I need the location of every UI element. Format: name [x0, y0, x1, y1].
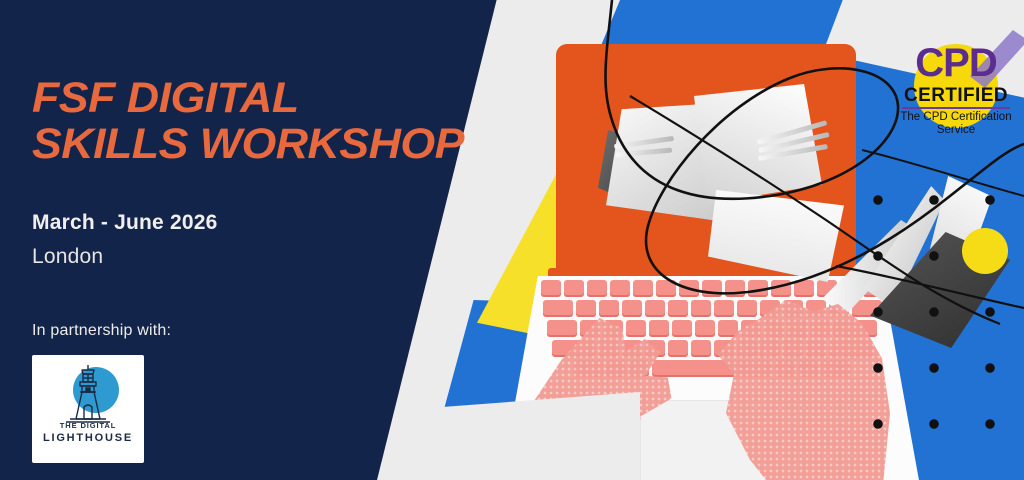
partner-logo[interactable]: THE DIGITAL LIGHTHOUSE — [32, 355, 144, 463]
cpd-acronym: CPD — [888, 42, 1024, 84]
cpd-service-line-2: Service — [937, 124, 975, 136]
partnership-label: In partnership with: — [32, 322, 472, 340]
cpd-service-text: The CPD Certification Service — [886, 111, 1024, 137]
page-title: FSF DIGITAL SKILLS WORKSHOP — [32, 75, 490, 167]
title-line-2: SKILLS WORKSHOP — [32, 121, 490, 167]
event-banner: FSF DIGITAL SKILLS WORKSHOP March - June… — [0, 0, 1024, 480]
title-line-1: FSF DIGITAL — [32, 74, 299, 122]
lighthouse-icon — [32, 359, 144, 429]
cpd-certified-label: CERTIFIED — [888, 85, 1024, 107]
event-dates: March - June 2026 — [32, 211, 472, 235]
cpd-certified-badge: CPD CERTIFIED The CPD Certification Serv… — [888, 30, 1024, 142]
partner-name-line-2: LIGHTHOUSE — [32, 432, 144, 444]
cpd-service-line-1: The CPD Certification — [900, 111, 1011, 123]
event-city: London — [32, 245, 472, 269]
partner-name-line-1: THE DIGITAL — [32, 421, 144, 430]
cpd-divider — [902, 107, 1010, 109]
banner-copy: FSF DIGITAL SKILLS WORKSHOP March - June… — [32, 0, 472, 463]
